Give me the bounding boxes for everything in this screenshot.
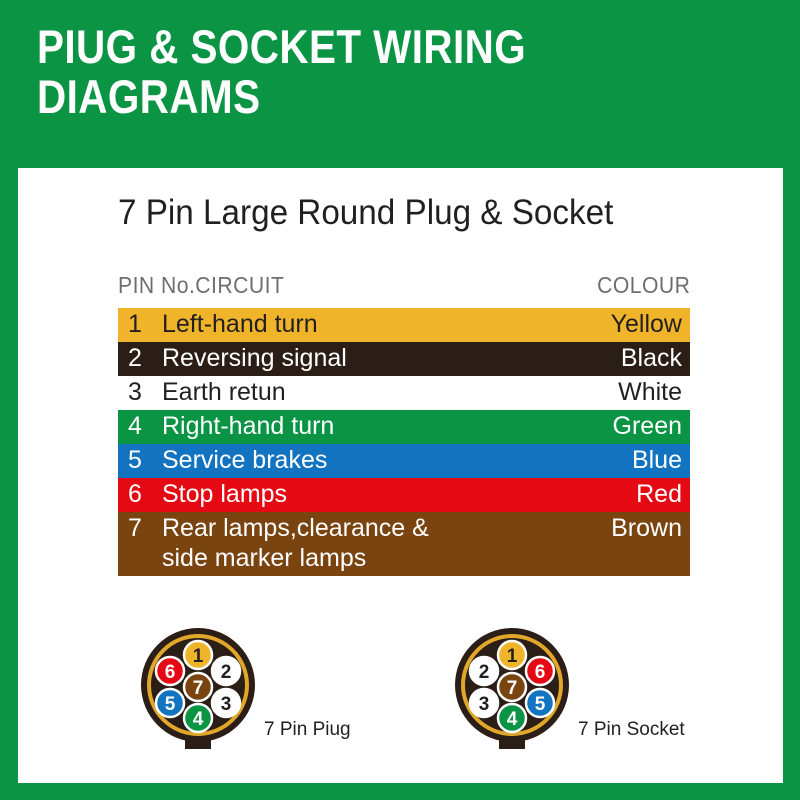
table-column-headers: PIN No.CIRCUIT COLOUR [118,272,690,300]
pin-number: 2 [118,343,152,373]
table-row: 7Rear lamps,clearance & side marker lamp… [118,512,690,576]
pin-label: 1 [193,646,204,667]
pin-1-terminal: 1 [184,641,212,669]
column-header-circuit: PIN No.CIRCUIT [118,272,284,299]
connector-diagrams: 12345677 Pin Piug12345677 Pin Socket [18,623,783,773]
pin-label: 3 [221,694,232,715]
pin-label: 4 [507,709,518,730]
circuit-description: Left-hand turn [152,309,611,339]
pin-6-terminal: 6 [526,657,554,685]
pin-label: 3 [479,694,490,715]
poster-header: PIUG & SOCKET WIRING DIAGRAMS [0,0,800,168]
connector-plug: 12345677 Pin Piug [136,623,260,751]
pin-number: 4 [118,411,152,441]
pin-label: 2 [221,662,232,683]
pin-number: 6 [118,479,152,509]
pin-3-terminal: 3 [470,689,498,717]
pin-5-terminal: 5 [526,689,554,717]
pin-3-terminal: 3 [212,689,240,717]
content-panel: 7 Pin Large Round Plug & Socket PIN No.C… [18,168,783,783]
socket-face-diagram: 1234567 [450,623,574,751]
pin-2-terminal: 2 [212,657,240,685]
pin-6-terminal: 6 [156,657,184,685]
circuit-description: Stop lamps [152,479,636,509]
pin-label: 5 [535,694,546,715]
table-row: 3Earth retunWhite [118,376,690,410]
table-row: 5Service brakesBlue [118,444,690,478]
table-row: 4Right-hand turnGreen [118,410,690,444]
wire-colour: White [618,377,690,407]
pin-7-terminal: 7 [498,673,526,701]
circuit-description: Right-hand turn [152,411,613,441]
connector-socket: 12345677 Pin Socket [450,623,574,751]
pin-4-terminal: 4 [184,704,212,732]
wire-colour: Yellow [611,309,690,339]
plug-face-diagram: 1234567 [136,623,260,751]
pin-2-terminal: 2 [470,657,498,685]
wire-colour: Black [621,343,690,373]
circuit-description: Rear lamps,clearance & side marker lamps [152,513,611,573]
panel-subtitle: 7 Pin Large Round Plug & Socket [118,193,688,233]
pin-number: 3 [118,377,152,407]
circuit-description: Service brakes [152,445,632,475]
wire-colour: Brown [611,513,690,543]
pin-7-terminal: 7 [184,673,212,701]
column-header-colour: COLOUR [597,272,690,299]
pin-label: 1 [507,646,518,667]
connector-caption: 7 Pin Socket [578,718,685,742]
wire-colour: Blue [632,445,690,475]
pin-label: 6 [535,662,546,683]
circuit-description: Earth retun [152,377,618,407]
pin-number: 1 [118,309,152,339]
table-row: 6Stop lampsRed [118,478,690,512]
pin-label: 7 [507,678,518,699]
connector-caption: 7 Pin Piug [264,718,351,742]
table-row: 2Reversing signalBlack [118,342,690,376]
pin-label: 6 [165,662,176,683]
pin-number: 5 [118,445,152,475]
page-title: PIUG & SOCKET WIRING DIAGRAMS [37,22,639,122]
circuit-description: Reversing signal [152,343,621,373]
pin-4-terminal: 4 [498,704,526,732]
table-row: 1Left-hand turnYellow [118,308,690,342]
pin-number: 7 [118,513,152,543]
pin-label: 2 [479,662,490,683]
pin-label: 4 [193,709,204,730]
pin-5-terminal: 5 [156,689,184,717]
wire-colour: Green [613,411,690,441]
wiring-diagram-poster: PIUG & SOCKET WIRING DIAGRAMS 7 Pin Larg… [0,0,800,800]
wire-colour: Red [636,479,690,509]
pin-1-terminal: 1 [498,641,526,669]
pin-circuit-table: 1Left-hand turnYellow2Reversing signalBl… [118,308,690,576]
pin-label: 7 [193,678,204,699]
pin-label: 5 [165,694,176,715]
